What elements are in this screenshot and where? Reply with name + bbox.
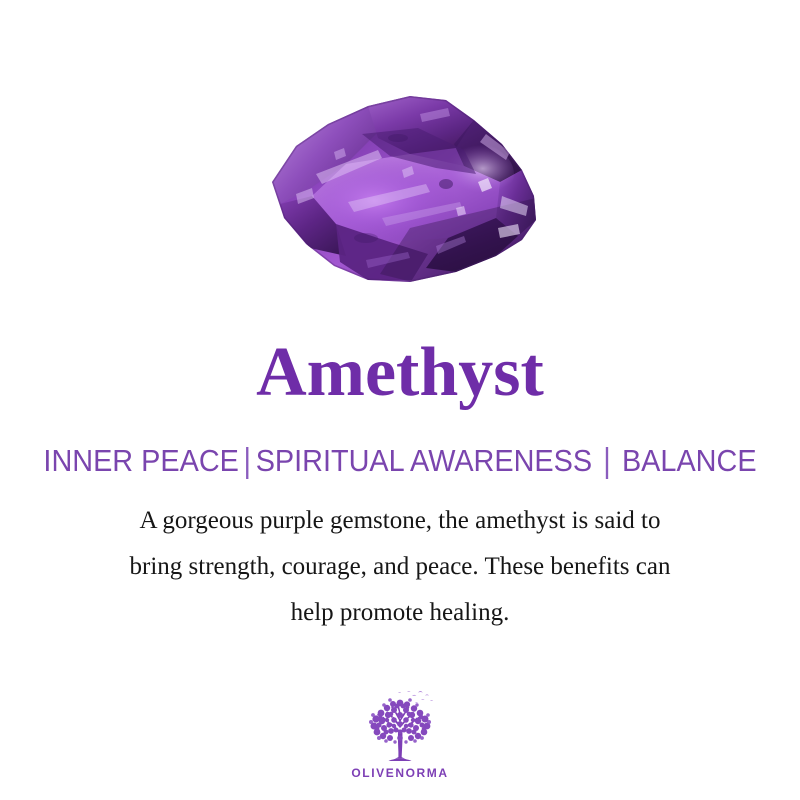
gemstone-stage bbox=[250, 78, 550, 293]
keyword-tagline: INNER PEACE|SPIRITUAL AWARENESS|BALANCE bbox=[28, 442, 772, 480]
description-line-1: A gorgeous purple gemstone, the amethyst… bbox=[50, 498, 750, 544]
logo-wordmark: OLIVENORMA bbox=[351, 766, 448, 780]
description-line-3: help promote healing. bbox=[50, 590, 750, 636]
description-line-2: bring strength, courage, and peace. Thes… bbox=[50, 544, 750, 590]
brand-logo: OLIVENORMA bbox=[0, 686, 800, 780]
tree-logo-icon bbox=[358, 686, 442, 764]
amethyst-crystal-icon bbox=[250, 78, 550, 293]
description-text: A gorgeous purple gemstone, the amethyst… bbox=[50, 498, 750, 636]
page-title: Amethyst bbox=[0, 336, 800, 410]
keyword-separator-1: | bbox=[239, 440, 256, 483]
keyword-inner-peace: INNER PEACE bbox=[43, 443, 238, 478]
amethyst-info-card: Amethyst INNER PEACE|SPIRITUAL AWARENESS… bbox=[0, 0, 800, 800]
keyword-spiritual-awareness: SPIRITUAL AWARENESS bbox=[256, 443, 592, 478]
keyword-separator-2: | bbox=[592, 440, 622, 483]
keyword-balance: BALANCE bbox=[622, 443, 757, 478]
hero-image-container bbox=[0, 60, 800, 310]
